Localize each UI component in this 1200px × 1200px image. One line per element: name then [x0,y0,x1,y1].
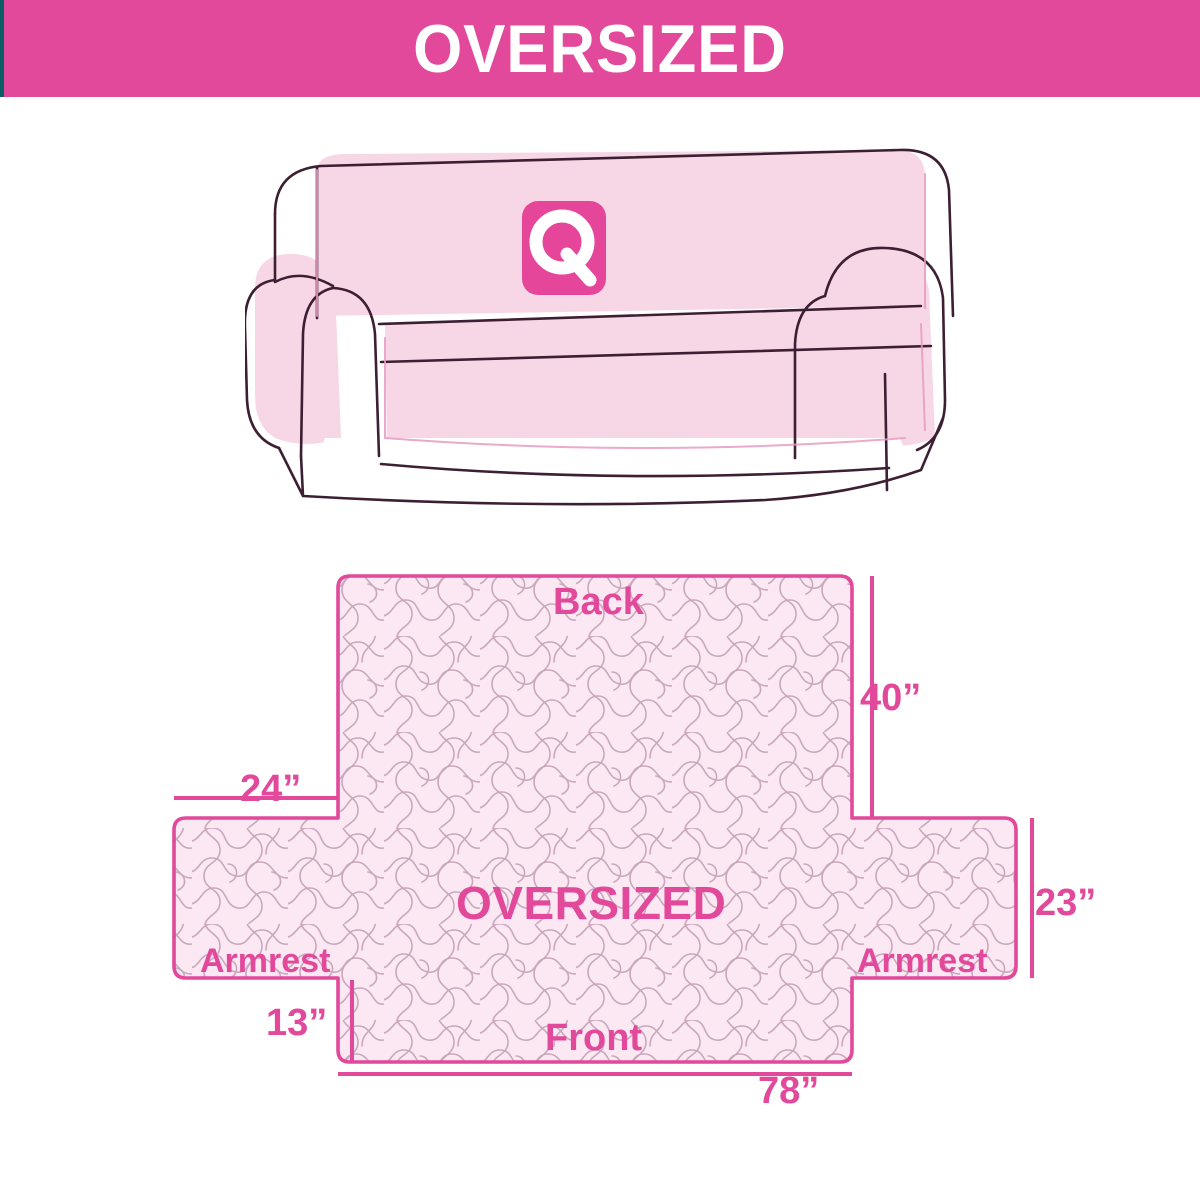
panel-label-armrest-right: Armrest [857,944,987,978]
page-title: OVERSIZED [413,15,787,83]
page-root: OVERSIZED [0,0,1200,1200]
cover-shape [174,576,1016,1062]
cover-size-label: OVERSIZED [456,880,726,926]
dimension-label-back-inset: 24” [240,770,301,808]
dimension-label-armrest-height: 23” [1035,884,1096,922]
banner-left-edge-accent [0,0,4,97]
panel-label-back-text: Back [553,583,644,621]
sofa-illustration [245,138,975,518]
panel-label-armrest-left: Armrest [200,944,330,978]
sofa-skirt-fill [305,438,921,490]
dimension-label-front-inset: 13” [266,1004,327,1042]
dimension-label-back-height: 40” [860,679,921,717]
cover-outline-path [174,576,1016,1062]
header-banner: OVERSIZED [0,0,1200,97]
brand-logo [522,201,606,295]
sofa-line-drawing-svg [245,138,975,518]
panel-label-front: Front [545,1019,642,1057]
dimension-label-front-width: 78” [758,1072,819,1110]
